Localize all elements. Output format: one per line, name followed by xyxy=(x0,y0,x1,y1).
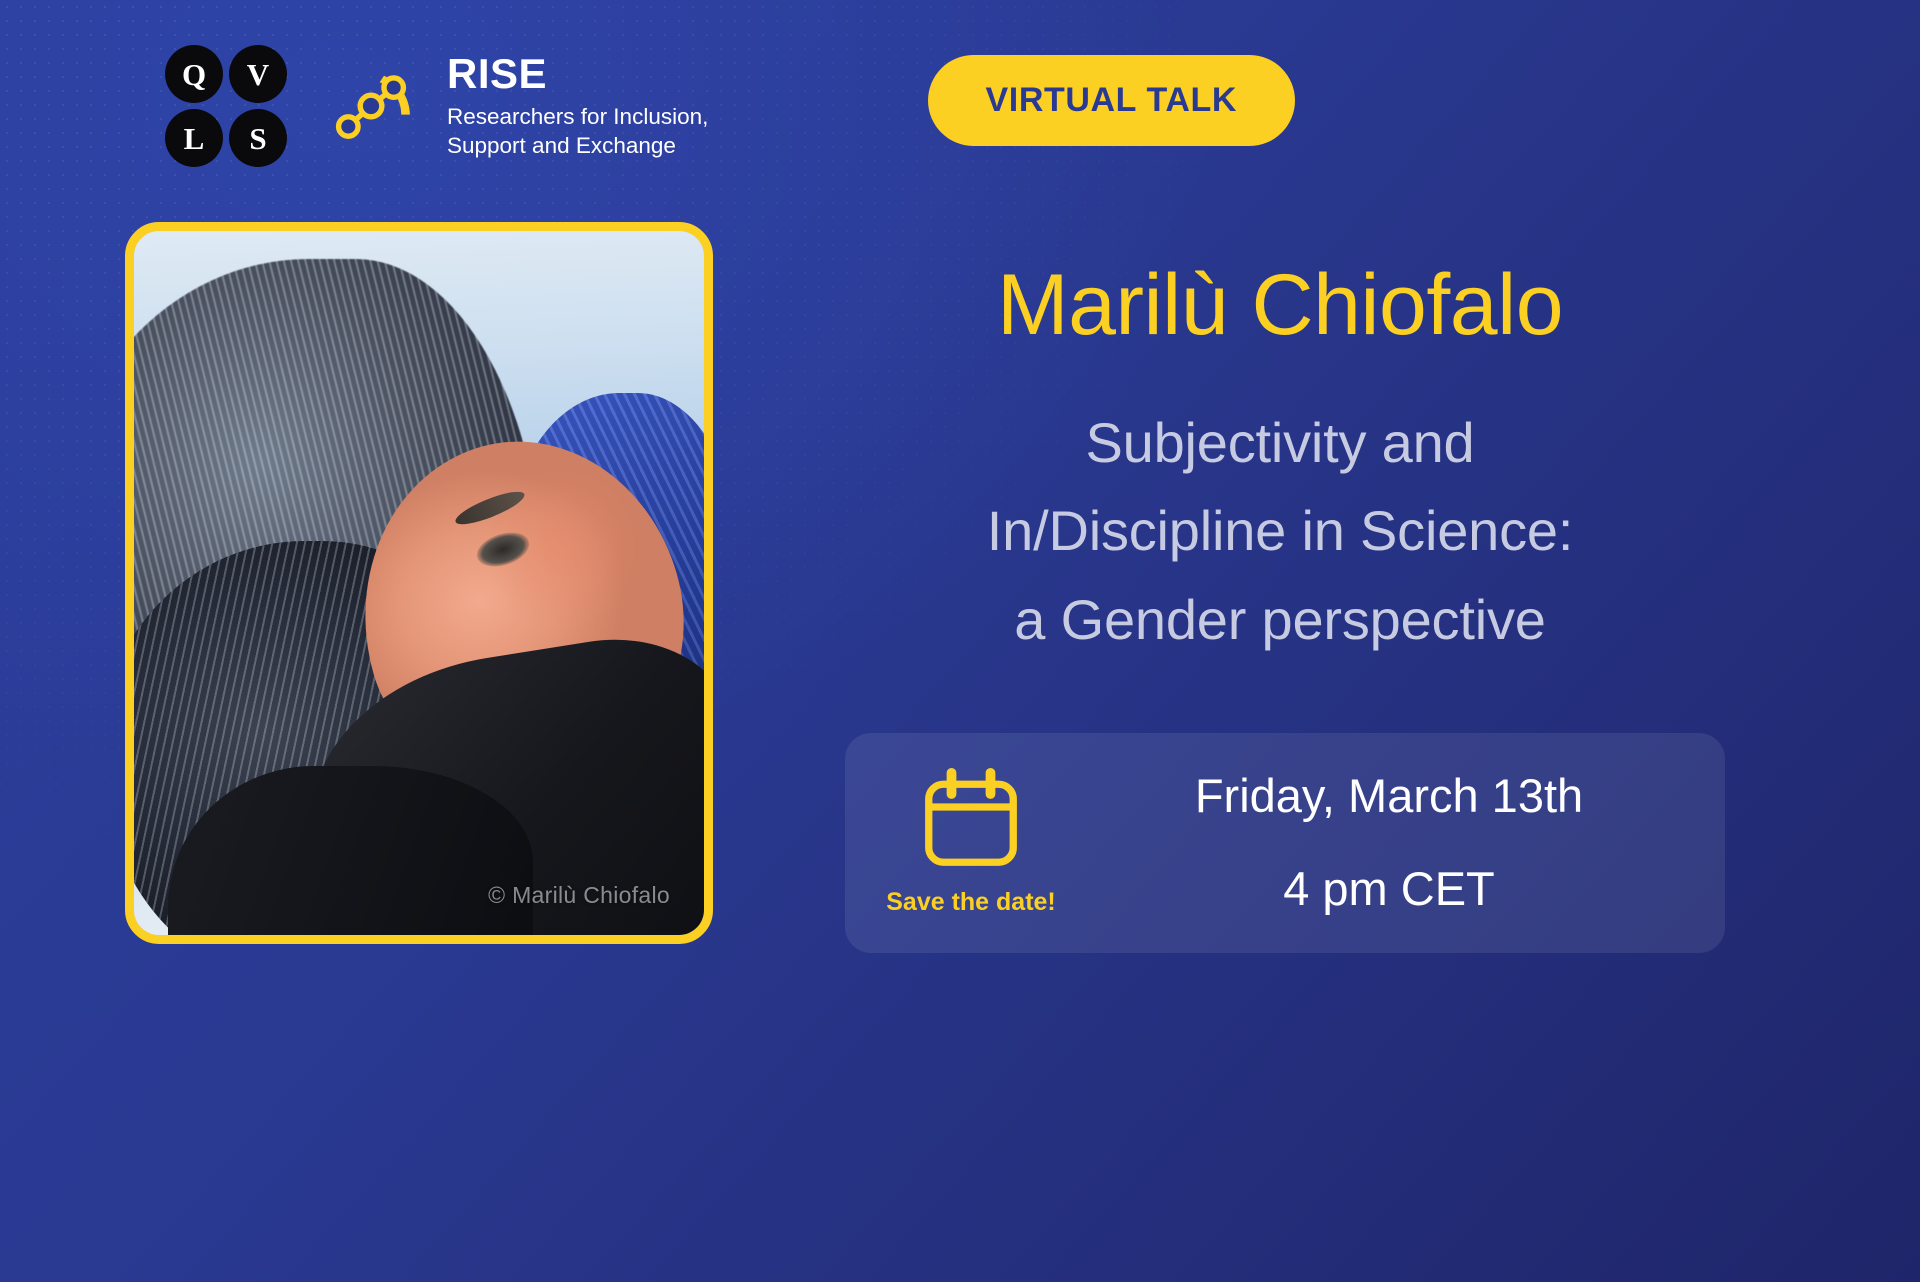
qvls-letter-v: V xyxy=(229,45,287,103)
event-date: Friday, March 13th xyxy=(1093,767,1685,826)
rise-logo-block: RISE Researchers for Inclusion, Support … xyxy=(317,52,708,161)
talk-title: Subjectivity and In/Discipline in Scienc… xyxy=(840,399,1720,664)
calendar-icon xyxy=(919,768,1023,872)
rise-tagline-line-2: Support and Exchange xyxy=(447,131,708,160)
save-the-date-card: Save the date! Friday, March 13th 4 pm C… xyxy=(845,733,1725,953)
speaker-name: Marilù Chiofalo xyxy=(840,258,1720,353)
event-poster: Q V L S RISE Researchers for Inclusion, … xyxy=(0,0,1920,1282)
talk-title-line-3: a Gender perspective xyxy=(840,576,1720,664)
qvls-letter-l: L xyxy=(165,109,223,167)
event-datetime-block: Friday, March 13th 4 pm CET xyxy=(1093,767,1685,919)
rise-title: RISE xyxy=(447,52,708,96)
header-logos: Q V L S RISE Researchers for Inclusion, … xyxy=(165,45,708,167)
qvls-letter-q: Q xyxy=(165,45,223,103)
rise-network-circle-icon xyxy=(317,52,425,160)
save-the-date-block: Save the date! xyxy=(893,768,1049,917)
talk-title-line-2: In/Discipline in Science: xyxy=(840,487,1720,575)
speaker-photo: © Marilù Chiofalo xyxy=(134,231,704,935)
rise-text-block: RISE Researchers for Inclusion, Support … xyxy=(447,52,708,161)
speaker-photo-frame: © Marilù Chiofalo xyxy=(125,222,713,944)
virtual-talk-badge: VIRTUAL TALK xyxy=(928,55,1295,146)
talk-info-column: Marilù Chiofalo Subjectivity and In/Disc… xyxy=(840,258,1720,664)
talk-title-line-1: Subjectivity and xyxy=(840,399,1720,487)
qvls-letter-s: S xyxy=(229,109,287,167)
rise-tagline-line-1: Researchers for Inclusion, xyxy=(447,102,708,131)
event-time: 4 pm CET xyxy=(1093,860,1685,919)
photo-credit-watermark: © Marilù Chiofalo xyxy=(488,882,670,909)
save-the-date-label: Save the date! xyxy=(886,888,1056,917)
qvls-logo: Q V L S xyxy=(165,45,287,167)
